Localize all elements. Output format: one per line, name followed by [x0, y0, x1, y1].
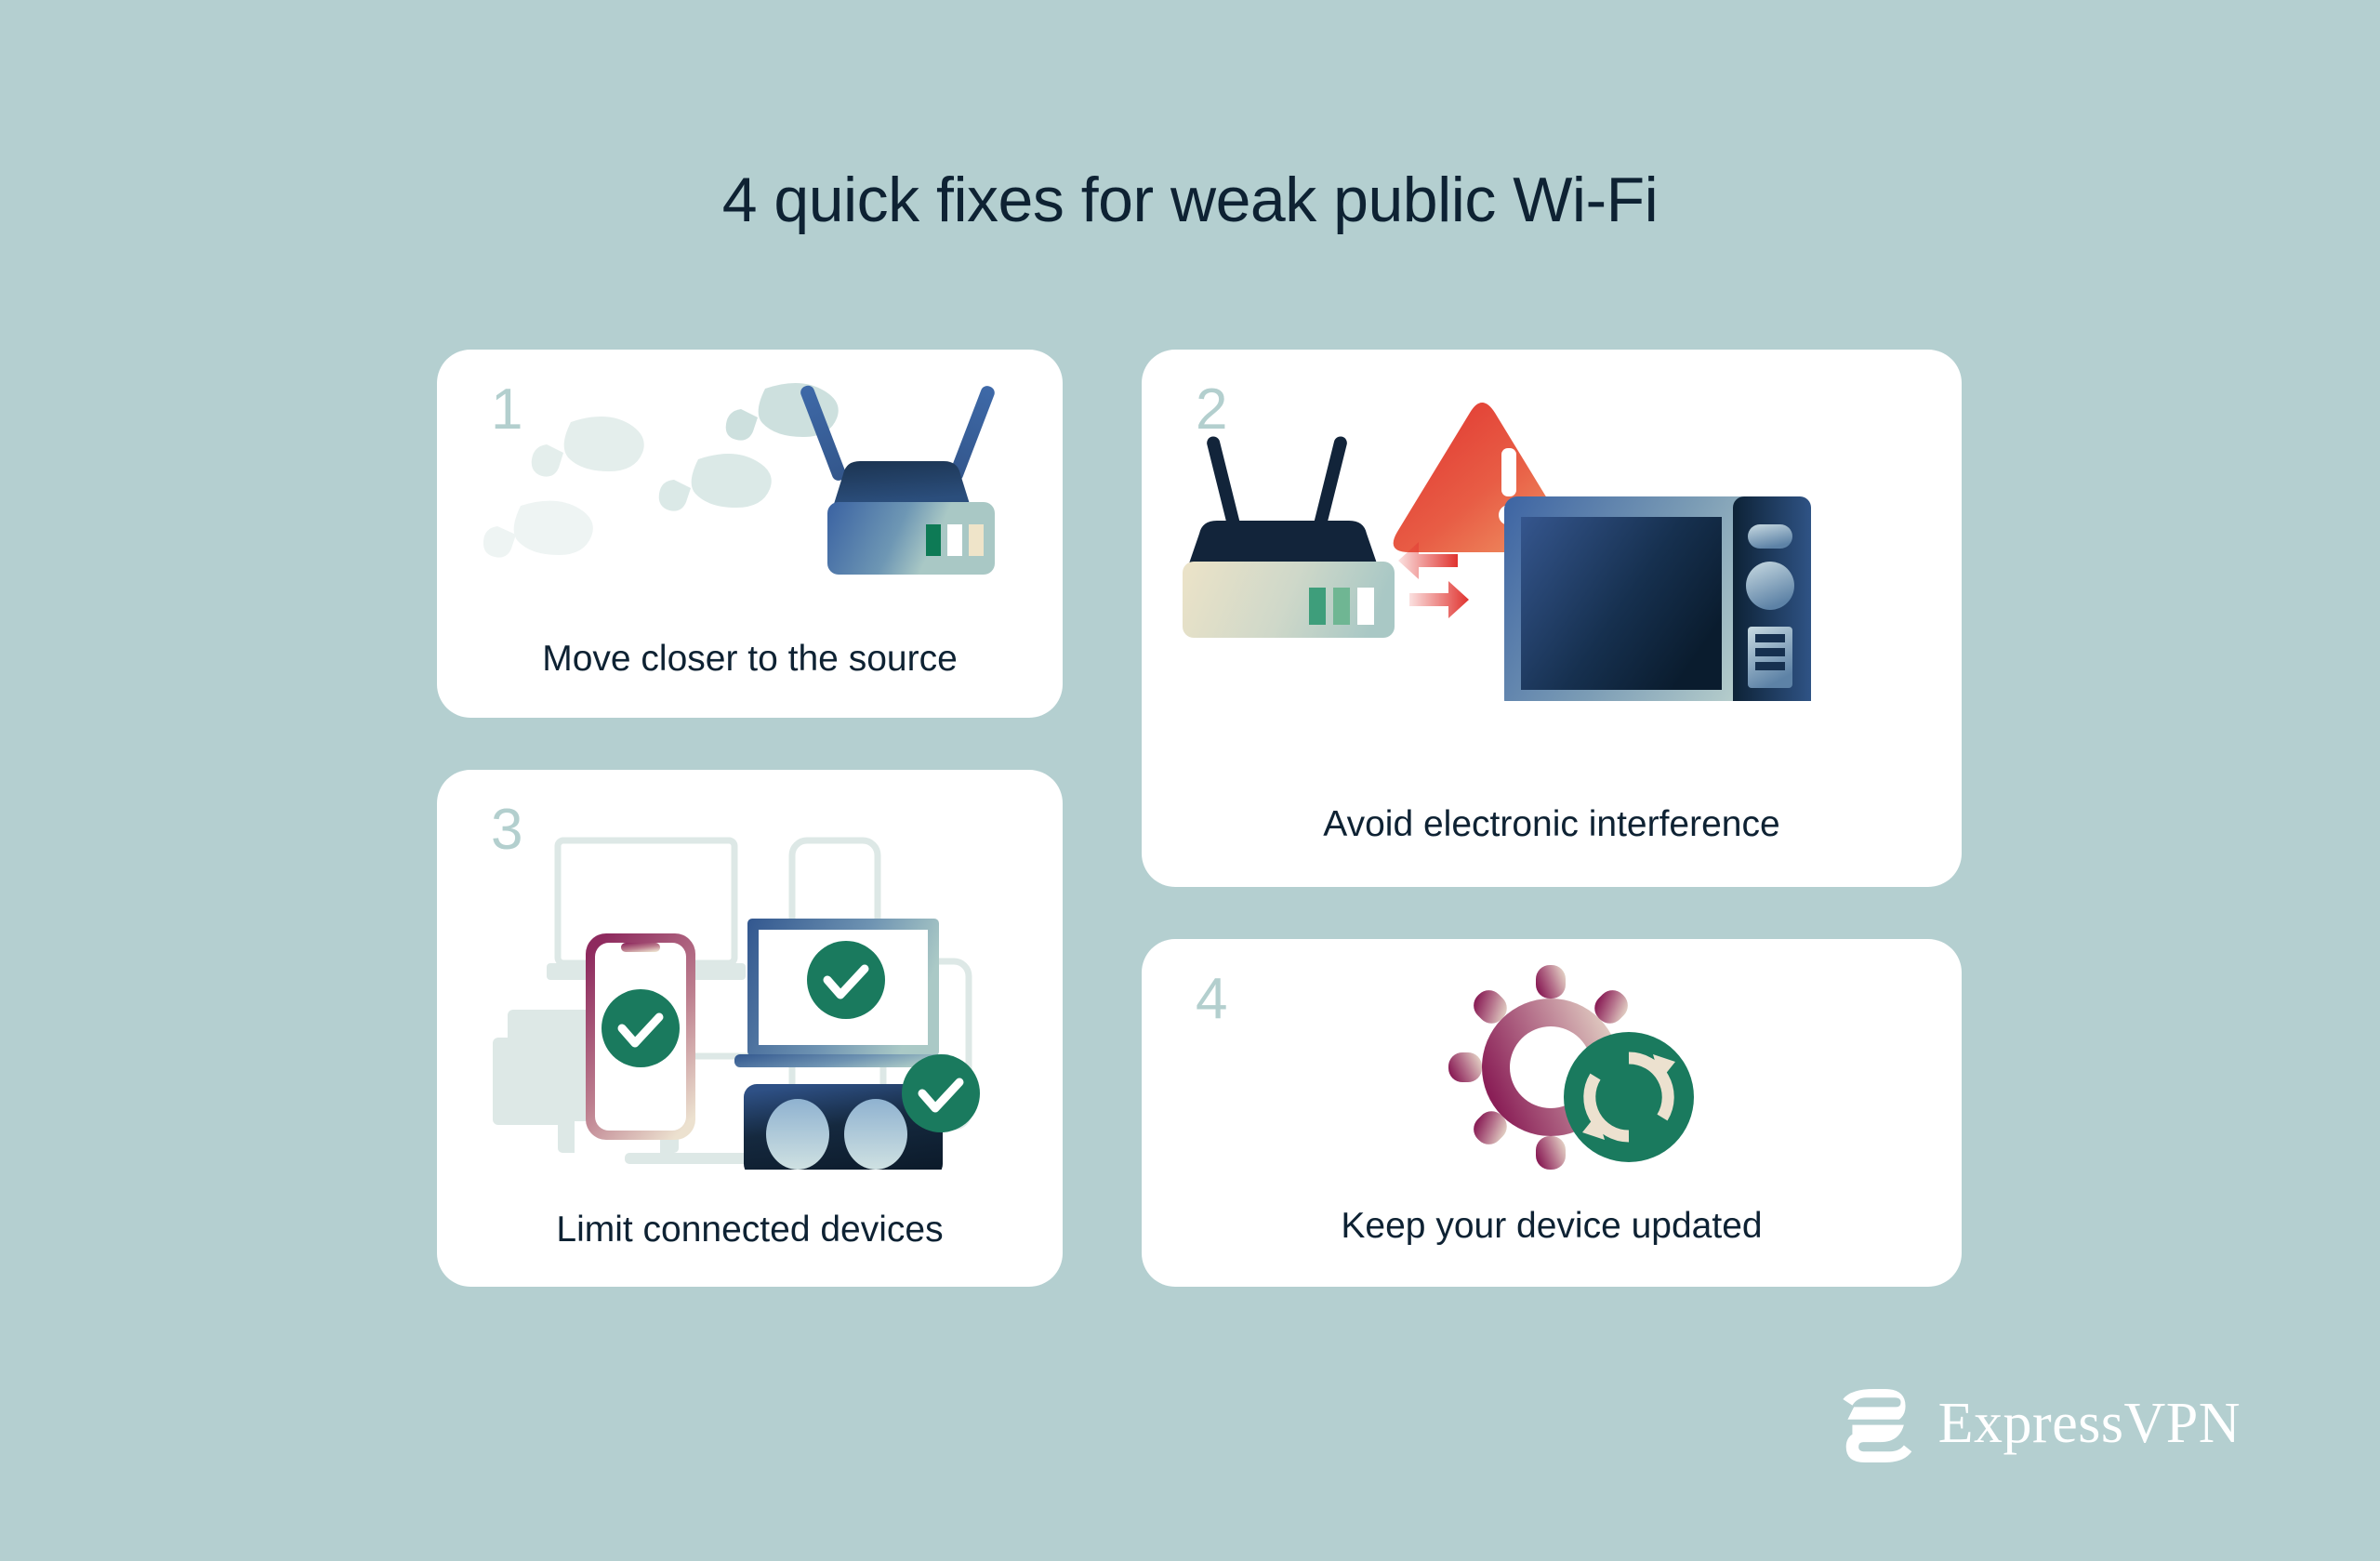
router-warning-microwave-illustration [1179, 394, 1923, 701]
footprints-to-router-illustration [456, 370, 1044, 584]
checkmark-icon-phone [602, 989, 680, 1067]
card-keep-updated[interactable]: 4 [1142, 939, 1962, 1287]
led-white [947, 524, 962, 556]
card-caption: Move closer to the source [437, 636, 1063, 682]
checkmark-icon-laptop [807, 941, 885, 1019]
page-title: 4 quick fixes for weak public Wi-Fi [0, 165, 2380, 235]
microwave-handle [1748, 524, 1792, 549]
led-white [1357, 588, 1374, 625]
card-move-closer[interactable]: 1 [437, 350, 1063, 718]
card-caption: Keep your device updated [1142, 1203, 1962, 1250]
card-limit-devices[interactable]: 3 [437, 770, 1063, 1287]
led-green [926, 524, 941, 556]
refresh-icon [1564, 1032, 1694, 1162]
card-caption: Limit connected devices [437, 1207, 1063, 1253]
expressvpn-logo-mark [1840, 1384, 1918, 1462]
led-green-2 [1333, 588, 1350, 625]
card-number: 4 [1196, 971, 1227, 1028]
interference-arrows [1398, 542, 1469, 618]
cards-grid: 1 [437, 350, 1962, 1287]
card-avoid-interference[interactable]: 2 [1142, 350, 1962, 887]
gear-refresh-illustration [1365, 965, 1737, 1170]
brand-logo: ExpressVPN [1840, 1384, 2241, 1462]
microwave-dial [1746, 562, 1794, 610]
led-cream [969, 524, 984, 556]
card-caption: Avoid electronic interference [1142, 801, 1962, 848]
router-graphic [1183, 435, 1395, 638]
brand-wordmark: ExpressVPN [1938, 1395, 2241, 1452]
led-green-1 [1309, 588, 1326, 625]
checkmark-icon-vr [902, 1054, 980, 1132]
connected-devices-illustration [485, 826, 1015, 1170]
microwave-graphic [1504, 496, 1811, 701]
footprints-group [483, 383, 839, 558]
